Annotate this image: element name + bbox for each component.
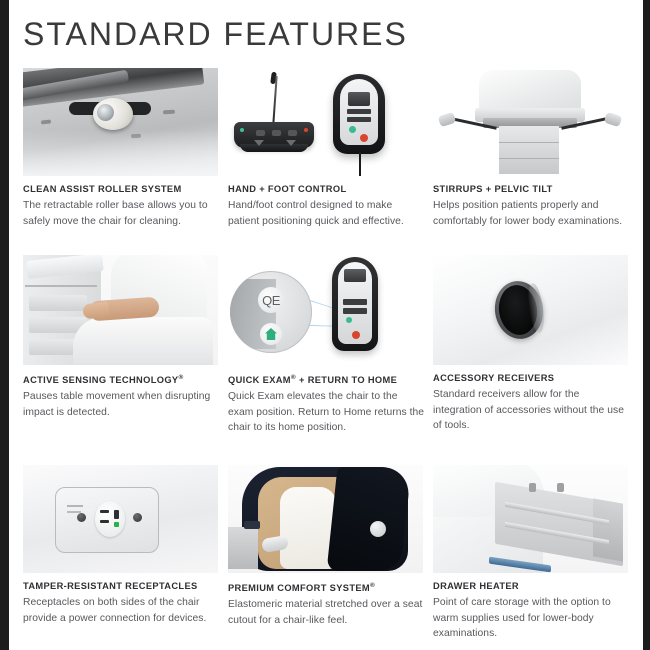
feature-title: QUICK EXAM® + RETURN TO HOME (228, 372, 425, 386)
quick-exam-button-callout: QE (258, 287, 284, 313)
feature-body: Pauses table movement when disrupting im… (23, 389, 220, 420)
feature-title: ACCESSORY RECEIVERS (433, 372, 630, 384)
stirrups-exam-table-photo (433, 68, 628, 176)
quick-exam-remote-photo: QE (228, 255, 423, 365)
feature-card-active-sensing-technology: ACTIVE SENSING TECHNOLOGY® Pauses table … (23, 255, 228, 465)
feature-title: TAMPER-RESISTANT RECEPTACLES (23, 580, 220, 592)
feature-title: HAND + FOOT CONTROL (228, 183, 425, 195)
feature-body: Point of care storage with the option to… (433, 595, 630, 642)
roller-caster-photo (23, 68, 218, 176)
home-icon (260, 323, 282, 345)
feature-card-premium-comfort-system: PREMIUM COMFORT SYSTEM® Elastomeric mate… (228, 465, 433, 650)
hand-foot-control-photo (228, 68, 423, 176)
feature-title: STIRRUPS + PELVIC TILT (433, 183, 630, 195)
feature-body: Quick Exam elevates the chair to the exa… (228, 389, 425, 436)
feature-title: PREMIUM COMFORT SYSTEM® (228, 580, 425, 594)
feature-sheet-page: STANDARD FEATURES CLEAN ASSIST ROLLER SY… (9, 0, 643, 650)
feature-card-drawer-heater: DRAWER HEATER Point of care storage with… (433, 465, 638, 650)
page-title: STANDARD FEATURES (23, 16, 408, 53)
feature-body: Receptacles on both sides of the chair p… (23, 595, 220, 626)
feature-body: Standard receivers allow for the integra… (433, 387, 630, 434)
feature-card-hand-foot-control: HAND + FOOT CONTROL Hand/foot control de… (228, 68, 433, 255)
features-row-3: TAMPER-RESISTANT RECEPTACLES Receptacles… (23, 465, 639, 650)
frame-edge-right (643, 0, 650, 650)
clinician-seated-photo (23, 255, 218, 365)
feature-title: CLEAN ASSIST ROLLER SYSTEM (23, 183, 220, 195)
feature-card-quick-exam-return-to-home: QE QUICK EXAM® + RETURN TO HOME Quick Ex… (228, 255, 433, 465)
feature-body: Elastomeric material stretched over a se… (228, 597, 425, 628)
open-drawer-photo (433, 465, 628, 573)
accessory-receiver-socket-photo (433, 255, 628, 365)
feature-body: Hand/foot control designed to make patie… (228, 198, 425, 229)
features-row-1: CLEAN ASSIST ROLLER SYSTEM The retractab… (23, 68, 639, 255)
feature-title: DRAWER HEATER (433, 580, 630, 592)
features-row-2: ACTIVE SENSING TECHNOLOGY® Pauses table … (23, 255, 639, 465)
feature-card-clean-assist-roller-system: CLEAN ASSIST ROLLER SYSTEM The retractab… (23, 68, 228, 255)
seat-cushion-photo (228, 465, 423, 573)
power-outlet-panel-photo (23, 465, 218, 573)
frame-edge-left (0, 0, 9, 650)
feature-card-stirrups-pelvic-tilt: STIRRUPS + PELVIC TILT Helps position pa… (433, 68, 638, 255)
feature-body: Helps position patients properly and com… (433, 198, 630, 229)
features-grid: CLEAN ASSIST ROLLER SYSTEM The retractab… (23, 68, 639, 650)
feature-card-accessory-receivers: ACCESSORY RECEIVERS Standard receivers a… (433, 255, 638, 465)
feature-card-tamper-resistant-receptacles: TAMPER-RESISTANT RECEPTACLES Receptacles… (23, 465, 228, 650)
feature-body: The retractable roller base allows you t… (23, 198, 220, 229)
feature-title: ACTIVE SENSING TECHNOLOGY® (23, 372, 220, 386)
